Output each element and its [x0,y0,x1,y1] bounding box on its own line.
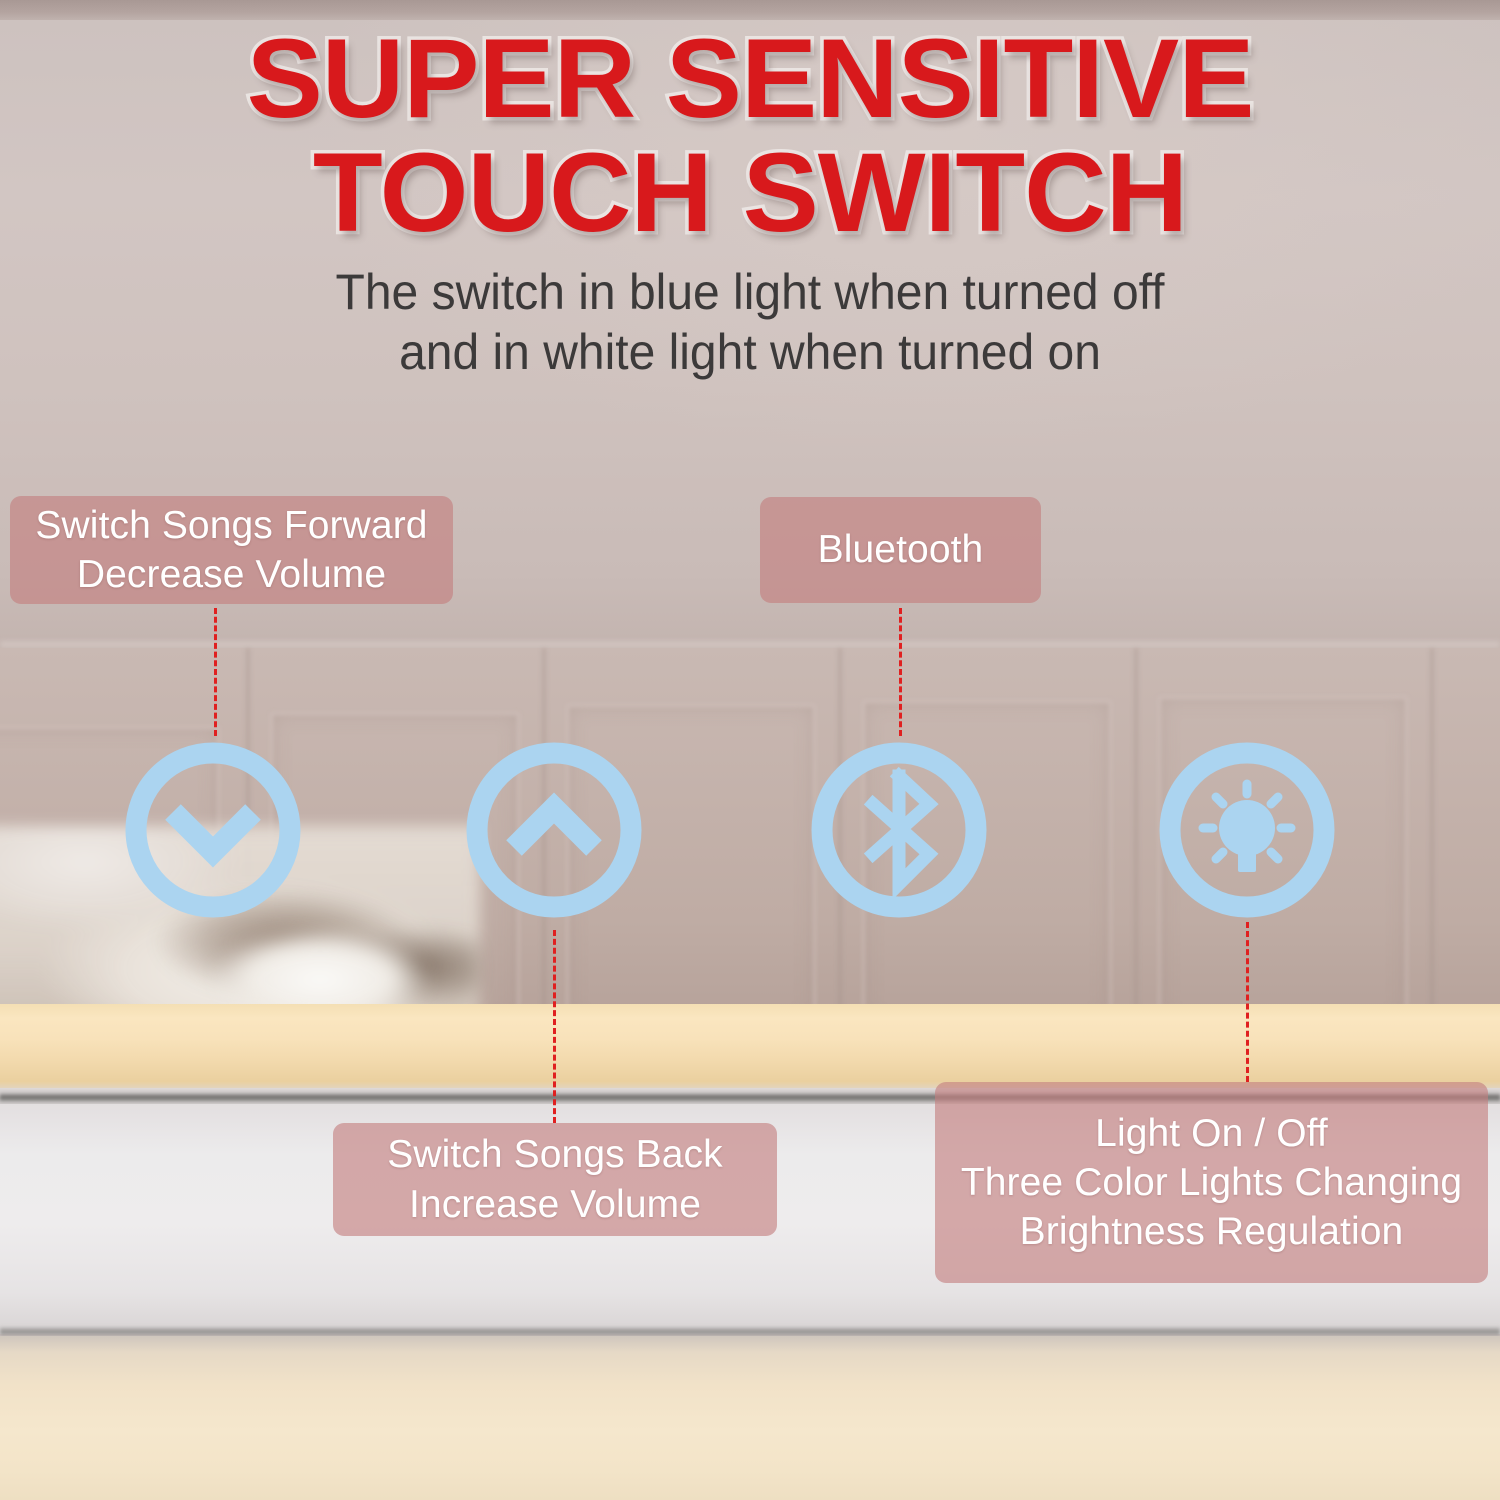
connector-line-forward [214,608,217,736]
subtitle: The switch in blue light when turned off… [30,262,1470,382]
chevron-down-icon[interactable] [125,742,301,918]
callout-line-3: Brightness Regulation [1020,1207,1404,1256]
callout-line-2: Increase Volume [409,1180,701,1229]
callout-line-1: Switch Songs Forward [35,501,427,550]
lower-wood-surface [0,1336,1500,1500]
connector-line-light [1246,922,1249,1082]
subtitle-line-2: and in white light when turned on [30,322,1470,382]
callout-light-control[interactable]: Light On / Off Three Color Lights Changi… [935,1082,1488,1283]
callout-line-2: Three Color Lights Changing [961,1158,1462,1207]
light-bulb-icon[interactable] [1159,742,1335,918]
wood-ledge [0,1004,1500,1092]
product-infographic: SUPER SENSITIVE TOUCH SWITCH The switch … [0,0,1500,1500]
callout-line-1: Switch Songs Back [387,1130,723,1179]
subtitle-line-1: The switch in blue light when turned off [30,262,1470,322]
callout-line-1: Light On / Off [1095,1109,1328,1158]
callout-bluetooth[interactable]: Bluetooth [760,497,1041,603]
connector-line-bluetooth [899,608,902,736]
callout-line-2: Decrease Volume [77,550,386,599]
callout-line-1: Bluetooth [818,525,984,574]
callout-switch-songs-back[interactable]: Switch Songs Back Increase Volume [333,1123,777,1236]
bluetooth-icon[interactable] [811,742,987,918]
chevron-up-icon[interactable] [466,742,642,918]
headline: SUPER SENSITIVE TOUCH SWITCH [0,22,1500,250]
headline-line-1: SUPER SENSITIVE [0,22,1500,136]
callout-switch-songs-forward[interactable]: Switch Songs Forward Decrease Volume [10,496,453,604]
headline-line-2: TOUCH SWITCH [0,136,1500,250]
connector-line-back [553,930,556,1123]
